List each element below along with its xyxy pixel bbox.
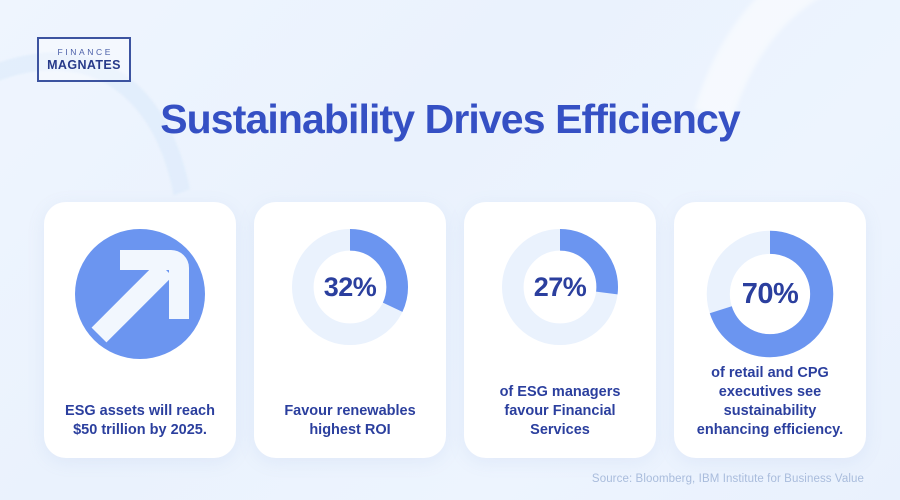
logo-line-finance: FINANCE (55, 47, 113, 57)
donut-value-label: 70% (704, 228, 836, 360)
donut-chart-70: 70% (704, 228, 836, 360)
finance-magnates-logo: FINANCE MAGNATES (37, 37, 131, 82)
source-attribution: Source: Bloomberg, IBM Institute for Bus… (592, 473, 864, 485)
page-title: Sustainability Drives Efficiency (0, 96, 900, 143)
donut-chart-27: 27% (501, 228, 619, 346)
stat-card-esg-assets: ESG assets will reach $50 trillion by 20… (44, 202, 236, 458)
stat-card-caption: ESG assets will reach $50 trillion by 20… (54, 402, 226, 440)
arrow-up-right-icon (75, 229, 205, 359)
stat-card-renewables-roi: 32% Favour renewables highest ROI (254, 202, 446, 458)
stat-card-esg-managers: 27% of ESG managers favour Financial Ser… (464, 202, 656, 458)
stat-card-caption: of retail and CPG executives see sustain… (684, 364, 856, 441)
donut-value-label: 27% (501, 228, 619, 346)
stat-card-caption: of ESG managers favour Financial Service… (474, 383, 646, 440)
logo-line-magnates: MAGNATES (47, 58, 121, 72)
stat-card-row: ESG assets will reach $50 trillion by 20… (44, 202, 866, 458)
stat-card-caption: Favour renewables highest ROI (264, 402, 436, 440)
donut-value-label: 32% (291, 228, 409, 346)
infographic-canvas: FINANCE MAGNATES Sustainability Drives E… (0, 0, 900, 500)
donut-chart-32: 32% (291, 228, 409, 346)
stat-card-retail-cpg: 70% of retail and CPG executives see sus… (674, 202, 866, 458)
